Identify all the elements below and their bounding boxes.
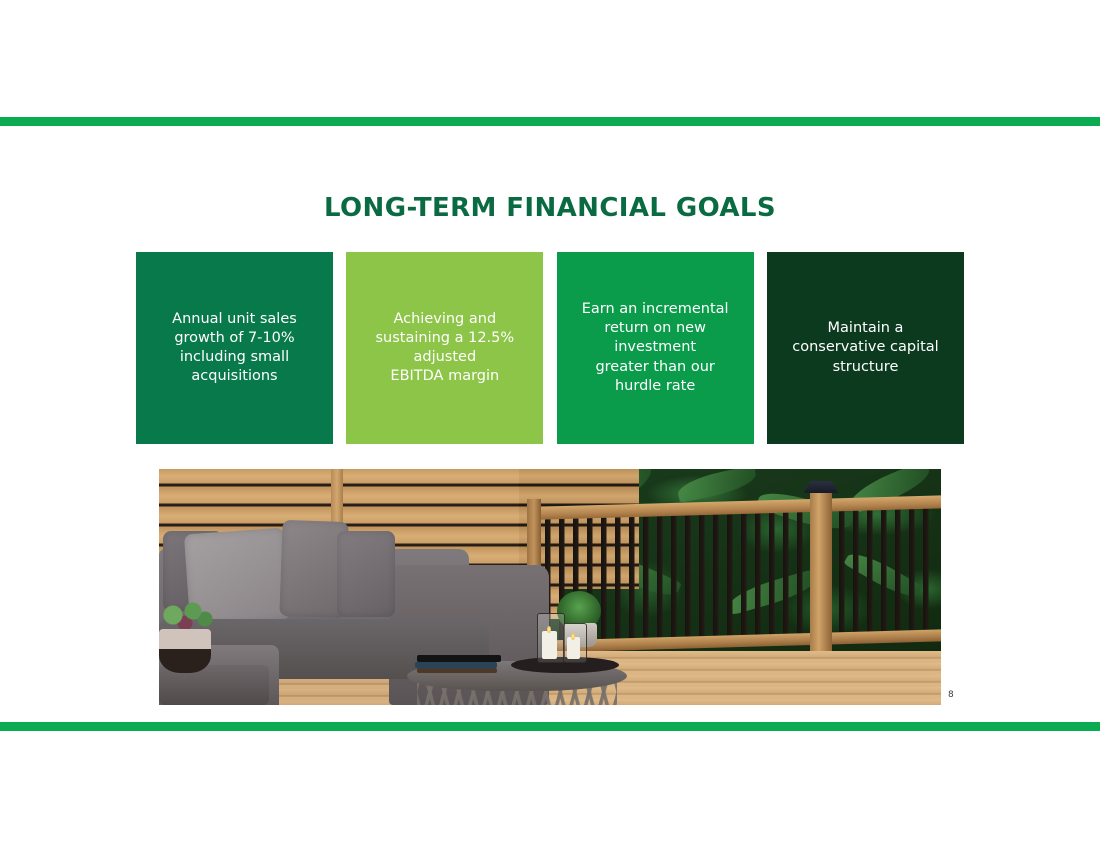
goals-row: Annual unit sales growth of 7-10% includ… [136, 252, 964, 444]
deck-lifestyle-photo [159, 469, 941, 705]
photo-succulent-plant [159, 597, 215, 633]
photo-leaf [676, 469, 759, 503]
bottom-accent-rule [0, 722, 1100, 731]
goal-card-1: Annual unit sales growth of 7-10% includ… [136, 252, 333, 444]
goal-card-4: Maintain a conservative capital structur… [767, 252, 964, 444]
goal-card-1-text: Annual unit sales growth of 7-10% includ… [172, 310, 297, 387]
goal-card-3-text: Earn an incremental return on new invest… [582, 300, 729, 396]
photo-book [417, 668, 497, 673]
page-number: 8 [948, 690, 954, 700]
photo-throw-pillow [337, 531, 395, 617]
photo-candle [567, 637, 580, 659]
top-accent-rule [0, 117, 1100, 126]
photo-candle-flame [571, 633, 575, 640]
goal-card-4-text: Maintain a conservative capital structur… [792, 319, 938, 376]
photo-succulent-planter [159, 629, 211, 673]
goal-card-2-text: Achieving and sustaining a 12.5% adjuste… [375, 310, 514, 387]
goal-card-2: Achieving and sustaining a 12.5% adjuste… [346, 252, 543, 444]
page-title: LONG-TERM FINANCIAL GOALS [0, 193, 1100, 223]
photo-candle [542, 631, 557, 659]
slide: LONG-TERM FINANCIAL GOALS Annual unit sa… [0, 0, 1100, 849]
photo-railing-post [810, 487, 832, 677]
photo-candle-flame [547, 626, 551, 633]
photo-book [417, 655, 501, 662]
goal-card-3: Earn an incremental return on new invest… [557, 252, 754, 444]
